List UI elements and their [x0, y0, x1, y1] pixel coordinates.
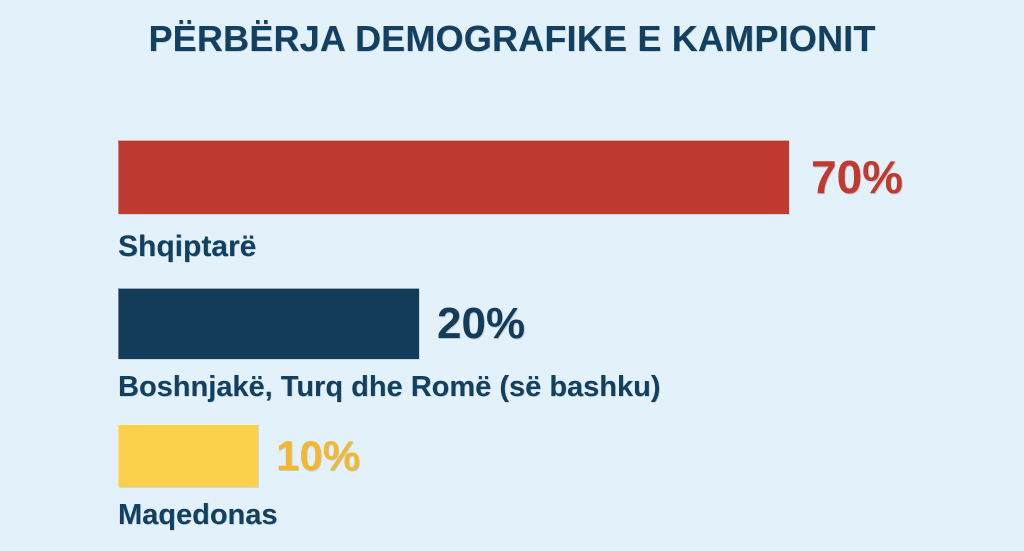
bar-value-shqiptare: 70%	[811, 154, 903, 200]
bar-group-maqedonas: 10% Maqedonas	[118, 424, 1008, 530]
bar-row: 10%	[118, 424, 1008, 487]
bar-label-maqedonas: Maqedonas	[118, 501, 1008, 530]
bar-list: 70% Shqiptarë 20% Boshnjakë, Turq dhe Ro…	[118, 140, 1008, 530]
bar-boshnjake-turq-rome	[118, 288, 419, 359]
chart-title: PËRBËRJA DEMOGRAFIKE E KAMPIONIT	[0, 16, 1024, 62]
demographic-composition-chart: PËRBËRJA DEMOGRAFIKE E KAMPIONIT 70% Shq…	[0, 0, 1024, 551]
bar-label-shqiptare: Shqiptarë	[118, 232, 1008, 262]
bar-value-maqedonas: 10%	[276, 435, 360, 477]
bar-group-boshnjake-turq-rome: 20% Boshnjakë, Turq dhe Romë (së bashku)	[118, 288, 1008, 402]
bar-row: 70%	[118, 140, 1008, 214]
bar-group-shqiptare: 70% Shqiptarë	[118, 140, 1008, 262]
bar-row: 20%	[118, 288, 1008, 359]
bar-value-boshnjake-turq-rome: 20%	[437, 302, 525, 346]
bar-shqiptare	[118, 140, 789, 214]
bar-maqedonas	[118, 424, 258, 487]
bar-label-boshnjake-turq-rome: Boshnjakë, Turq dhe Romë (së bashku)	[118, 373, 1008, 402]
